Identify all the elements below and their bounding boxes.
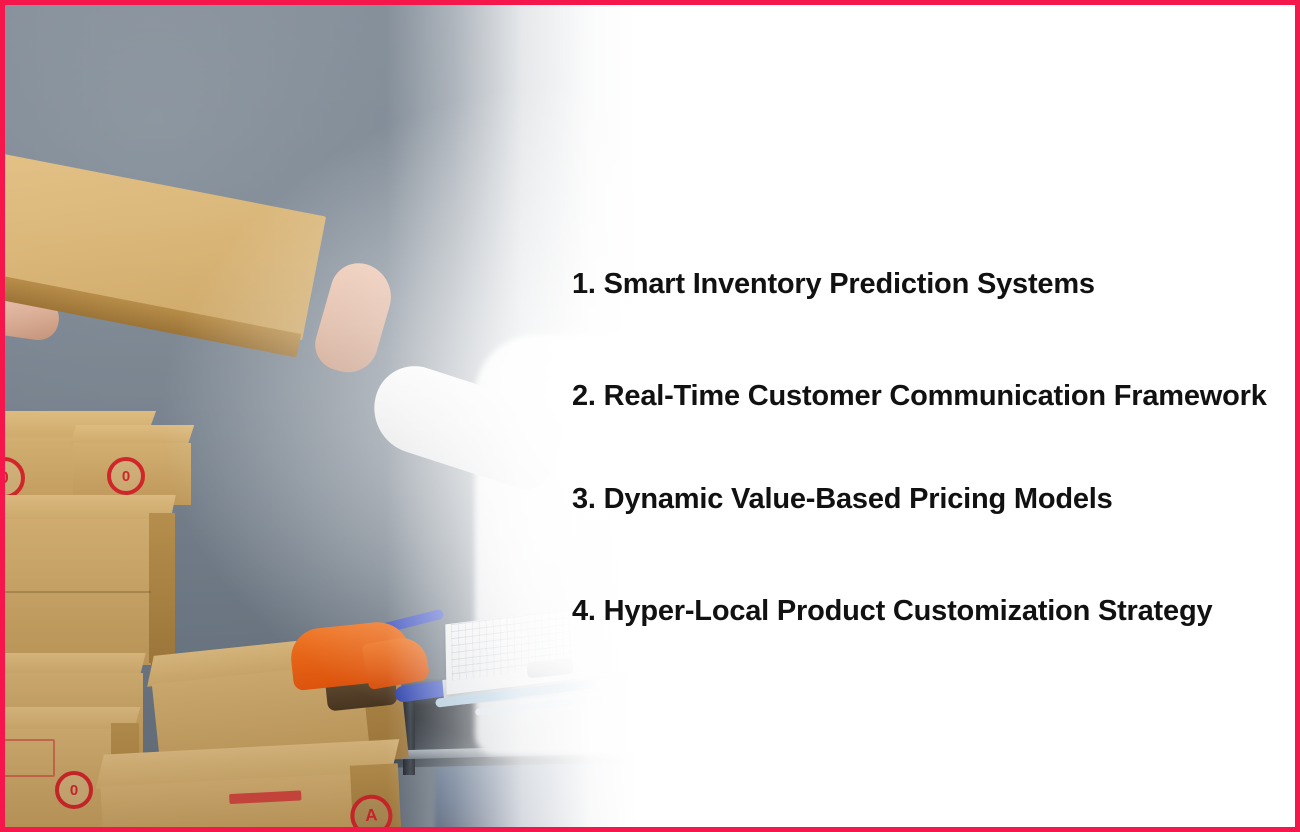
border-top xyxy=(0,0,1300,5)
headline-item-3: 3. Dynamic Value-Based Pricing Models xyxy=(572,482,1113,517)
headline-item-1: 1. Smart Inventory Prediction Systems xyxy=(572,267,1095,302)
headline-item-2: 2. Real-Time Customer Communication Fram… xyxy=(572,379,1267,414)
border-bottom xyxy=(0,827,1300,832)
headline-item-4: 4. Hyper-Local Product Customization Str… xyxy=(572,594,1212,629)
slide-canvas: 0 0 0 xyxy=(0,0,1300,832)
border-left xyxy=(0,0,5,832)
border-right xyxy=(1295,0,1300,832)
headline-list: 1. Smart Inventory Prediction Systems 2.… xyxy=(572,5,1282,827)
